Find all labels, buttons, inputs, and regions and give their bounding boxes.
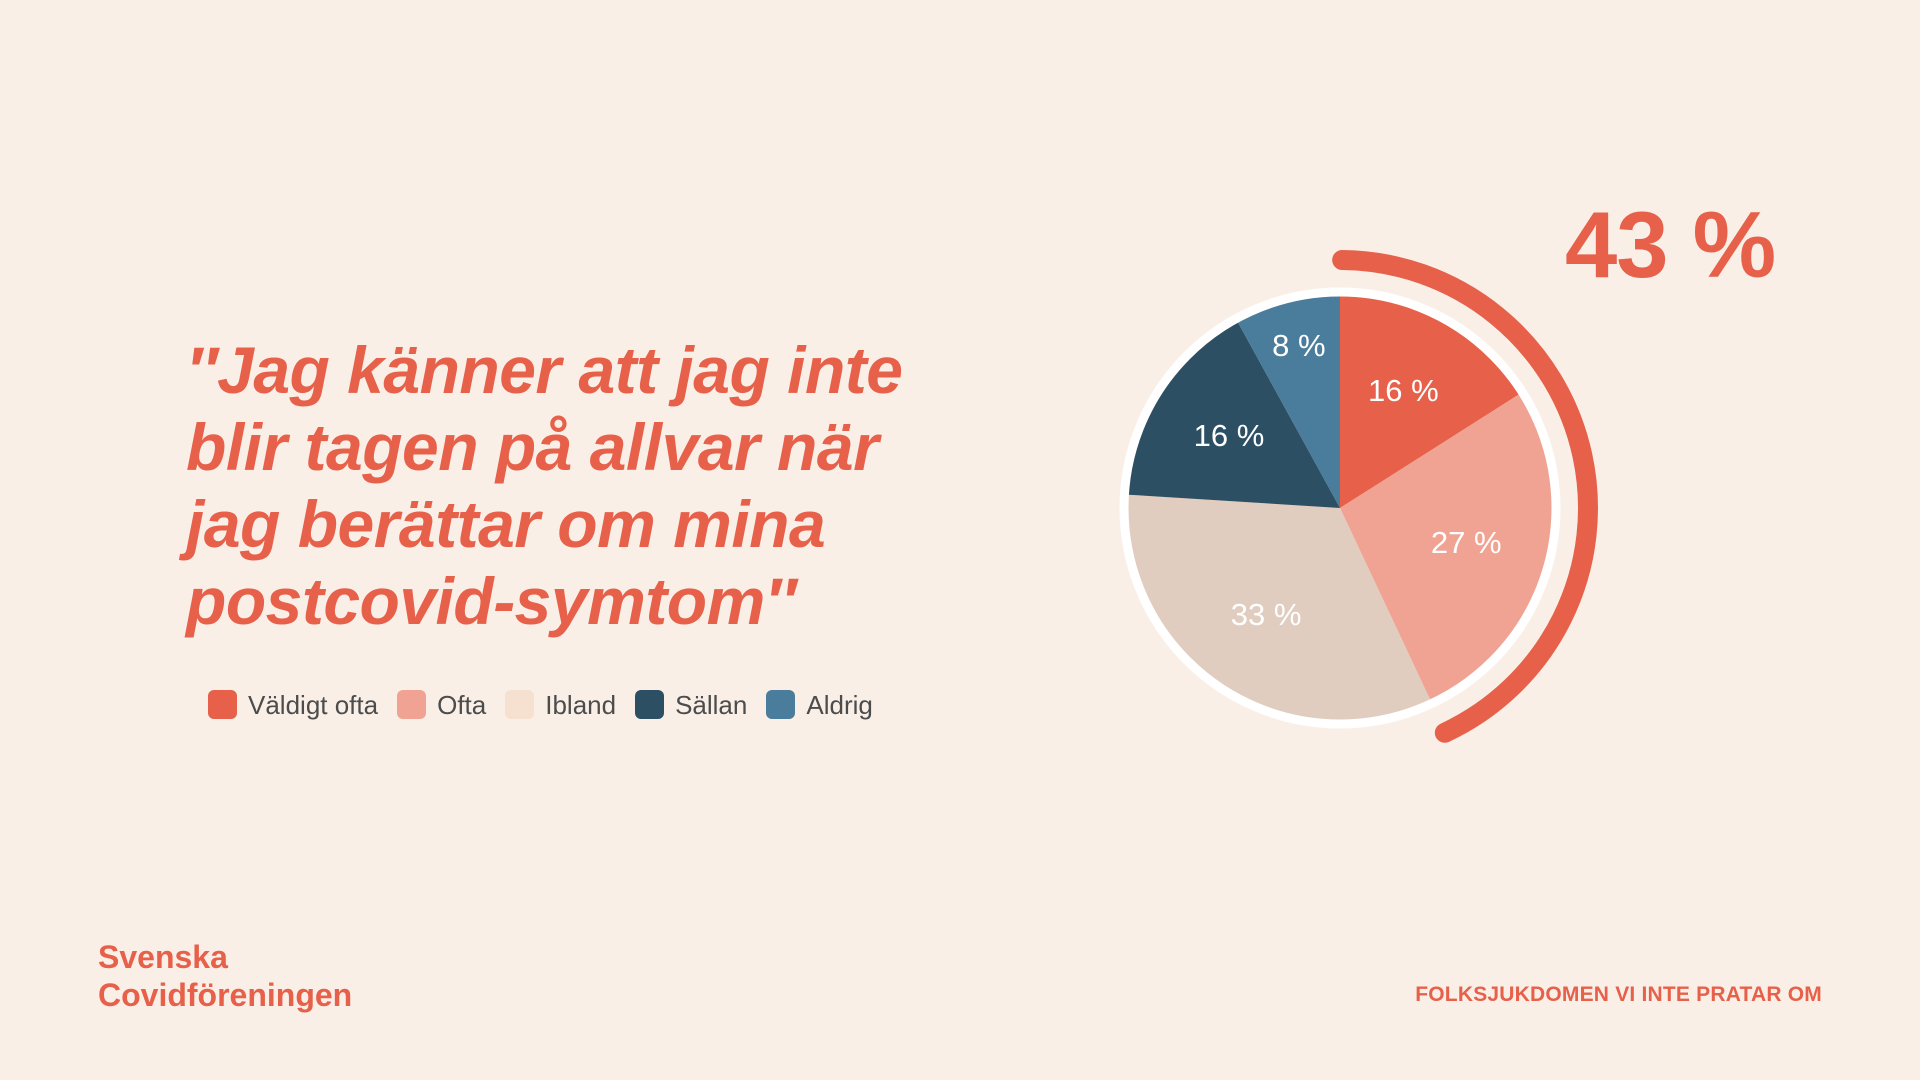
legend-label: Sällan	[675, 692, 747, 718]
legend-swatch-icon	[635, 690, 664, 719]
pie-slice-label: 16 %	[1368, 373, 1439, 408]
pie-slice-label: 27 %	[1431, 525, 1502, 560]
pie-slice-label: 8 %	[1272, 328, 1325, 363]
organization-logo: Svenska Covidföreningen	[98, 938, 352, 1014]
legend-label: Ofta	[437, 692, 486, 718]
pie-chart: 16 %27 %33 %16 %8 %	[1088, 230, 1668, 810]
legend-swatch-icon	[397, 690, 426, 719]
pie-chart-svg: 16 %27 %33 %16 %8 %	[1088, 230, 1668, 810]
campaign-tagline: FOLKSJUKDOMEN VI INTE PRATAR OM	[1415, 984, 1822, 1005]
legend-label: Aldrig	[806, 692, 872, 718]
legend-swatch-icon	[505, 690, 534, 719]
chart-legend: Väldigt ofta Ofta Ibland Sällan Aldrig	[208, 690, 873, 719]
pie-slice-label: 16 %	[1194, 418, 1265, 453]
legend-swatch-icon	[208, 690, 237, 719]
legend-item-valdigt-ofta[interactable]: Väldigt ofta	[208, 690, 378, 719]
quote-text: ″Jag känner att jag inte blir tagen på a…	[186, 332, 986, 640]
highlight-value: 43 %	[1565, 198, 1775, 292]
legend-label: Ibland	[545, 692, 616, 718]
legend-label: Väldigt ofta	[248, 692, 378, 718]
pie-slices	[1128, 296, 1552, 720]
legend-item-aldrig[interactable]: Aldrig	[766, 690, 872, 719]
infographic-canvas: ″Jag känner att jag inte blir tagen på a…	[0, 0, 1920, 1080]
legend-item-ofta[interactable]: Ofta	[397, 690, 486, 719]
legend-item-sallan[interactable]: Sällan	[635, 690, 747, 719]
legend-swatch-icon	[766, 690, 795, 719]
pie-slice-label: 33 %	[1231, 597, 1302, 632]
legend-item-ibland[interactable]: Ibland	[505, 690, 616, 719]
